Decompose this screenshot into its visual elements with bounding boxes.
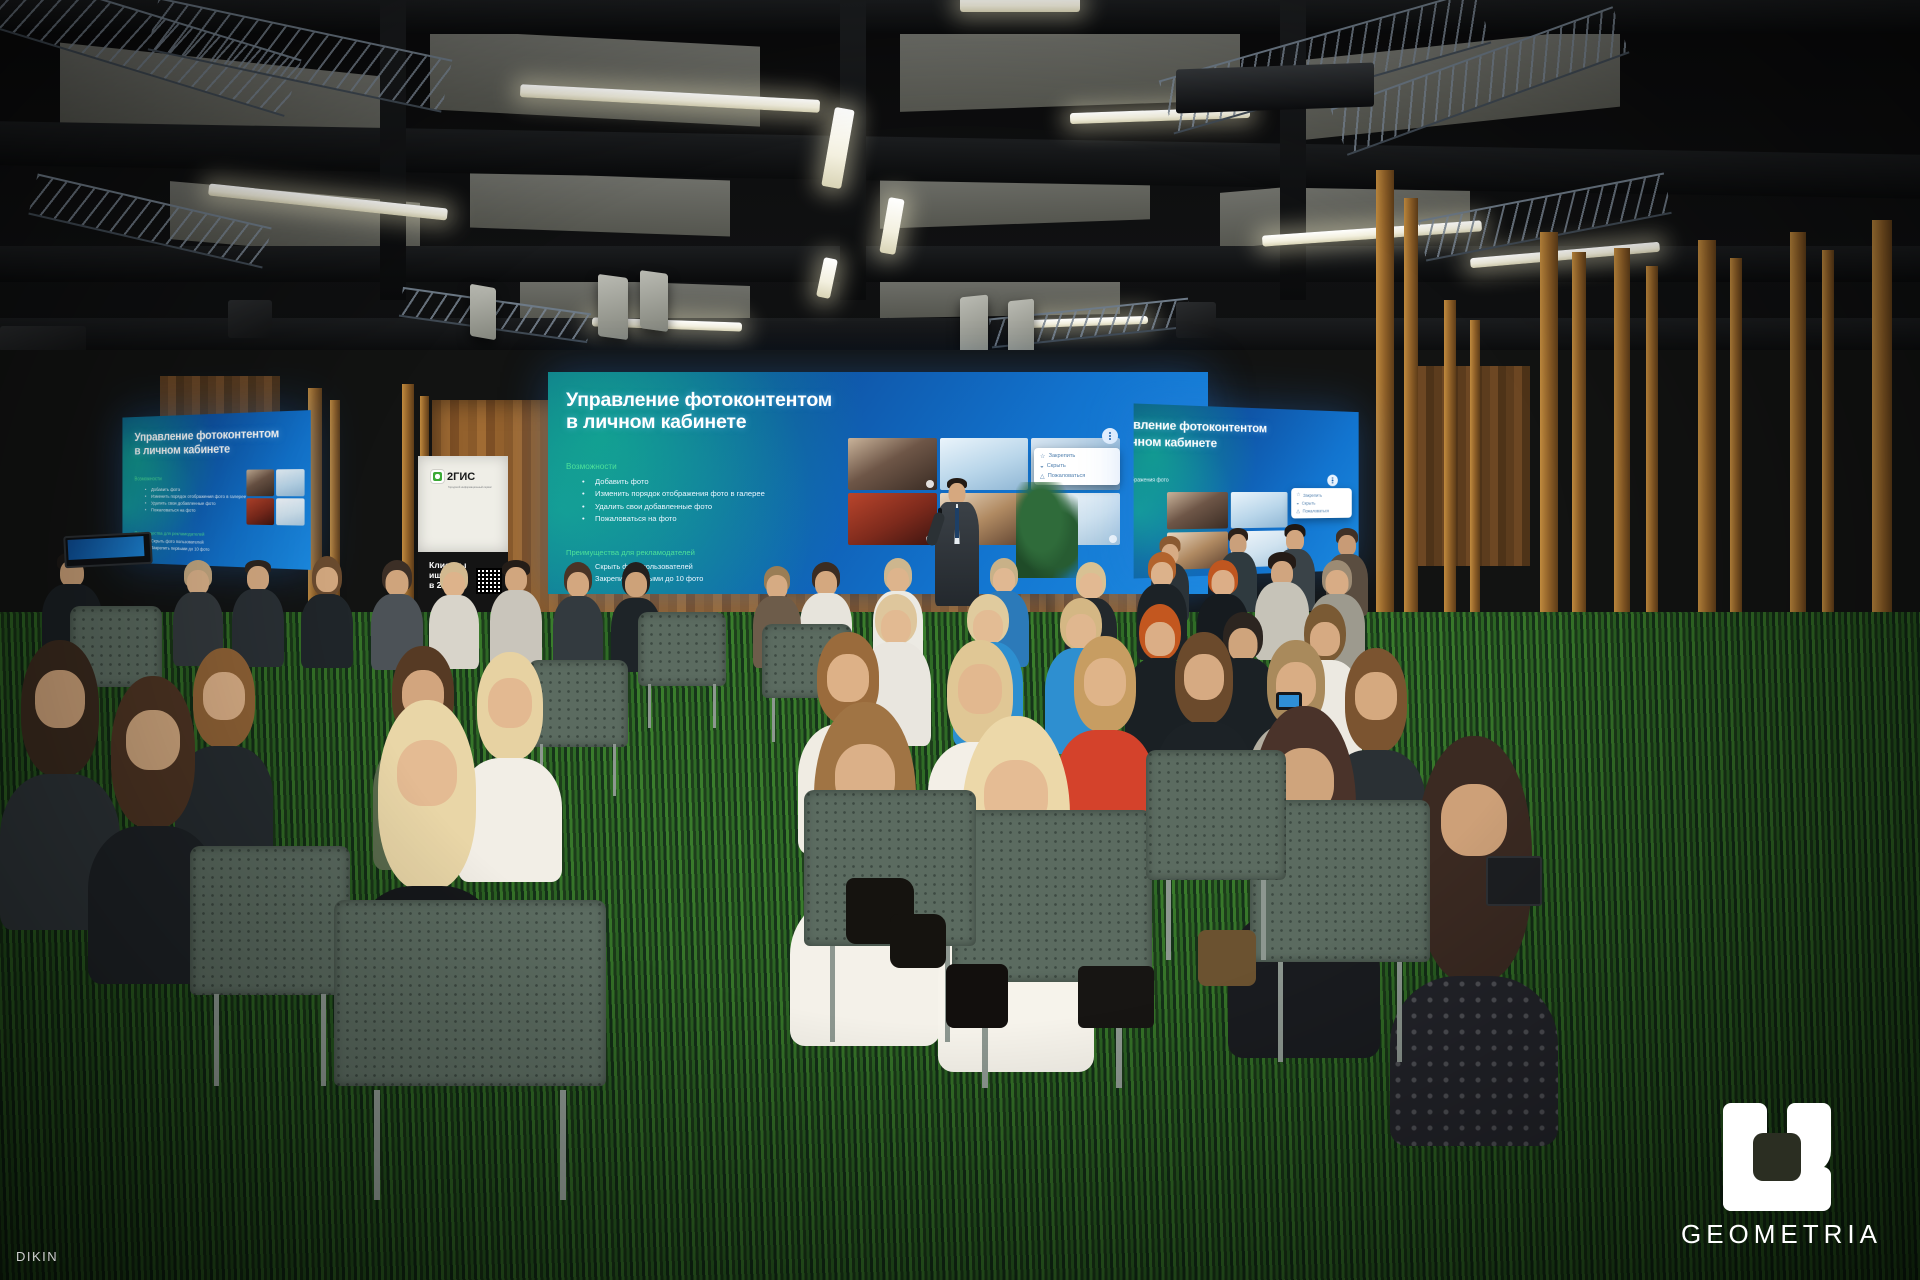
bullet-dot-icon: •: [582, 501, 585, 513]
boot: [946, 964, 1008, 1028]
watermark-brand-text: GEOMETRIA: [1681, 1219, 1882, 1250]
warning-triangle-icon: △: [1296, 509, 1300, 515]
menu-item-report[interactable]: △ Пожаловаться: [1295, 507, 1348, 516]
list-item: •Удалить свои добавленные фото: [582, 501, 802, 513]
left-screen-gallery-mockup: [246, 469, 304, 526]
list-item: •Изменить порядок отображения фото в гал…: [582, 488, 802, 500]
handbag: [1078, 966, 1154, 1028]
2gis-logo: 2ГИС: [431, 470, 475, 483]
list-item: •Добавить фото: [582, 476, 802, 488]
ceiling-panel: [470, 171, 730, 236]
gallery-photo: [1167, 492, 1227, 529]
gallery-photo: [276, 469, 304, 496]
menu-item-pin[interactable]: ☆ Закрепить: [1295, 491, 1348, 499]
gallery-photo: [1230, 492, 1287, 528]
necktie: [955, 508, 959, 538]
eye-off-icon: ◒: [1296, 500, 1299, 506]
geometria-watermark: GEOMETRIA: [1681, 1103, 1882, 1250]
bullet-dot-icon: •: [145, 507, 146, 514]
power-outlet[interactable]: [1486, 856, 1542, 906]
list-item: •Пожаловаться на фото: [582, 513, 802, 525]
gallery-photo: [276, 498, 304, 525]
audience-member: [300, 556, 354, 664]
ceiling-speaker: [640, 270, 668, 332]
gallery-photo: [246, 498, 274, 525]
photographer-credit: DIKIN: [16, 1249, 58, 1264]
2gis-logo-subtitle: Городской информационный сервис: [448, 486, 492, 489]
ceiling-speaker: [598, 274, 628, 340]
photo-badge: [1109, 535, 1117, 543]
star-pin-icon: ☆: [1040, 453, 1046, 460]
warning-triangle-icon: △: [1040, 473, 1045, 480]
ceiling-panel: [430, 29, 760, 126]
ceiling-speaker: [1176, 302, 1216, 338]
slide-section2-heading: Преимущества для рекламодателей: [566, 548, 695, 557]
2gis-map-pin-icon: [431, 470, 444, 483]
left-screen-section1-heading: Возможности: [134, 476, 161, 482]
phone-screen-preview: [68, 536, 145, 560]
bullet-dot-icon: •: [582, 476, 585, 488]
photo-context-menu[interactable]: ☆ Закрепить ◒ Скрыть △ Пожаловаться: [1291, 488, 1352, 519]
ceiling-speaker: [960, 295, 988, 356]
bullet-dot-icon: •: [582, 488, 585, 500]
slide-title-line1: Управление фотоконтентом: [566, 390, 832, 412]
more-vertical-icon[interactable]: [1102, 428, 1118, 444]
slide-title-line2: в личном кабинете: [566, 412, 746, 434]
menu-item-report[interactable]: △ Пожаловаться: [1038, 471, 1116, 481]
ceiling-speaker: [470, 284, 496, 341]
boot: [890, 914, 946, 968]
photo-context-menu[interactable]: ☆ Закрепить ◒ Скрыть △ Пожаловаться: [1034, 448, 1120, 485]
bullet-dot-icon: •: [582, 513, 585, 525]
bullet-dot-icon: •: [145, 493, 146, 500]
head: [949, 483, 966, 504]
chair: [190, 846, 350, 1086]
ceiling-light-tube: [960, 0, 1080, 12]
boot: [1198, 930, 1256, 986]
eye-off-icon: ◒: [1040, 463, 1044, 470]
chair: [334, 900, 606, 1200]
menu-item-hide[interactable]: ◒ Скрыть: [1038, 461, 1116, 471]
chair: [638, 612, 726, 732]
more-vertical-icon[interactable]: [1327, 475, 1338, 487]
conference-hall-photo: Управление фотоконтентом в личном кабине…: [0, 0, 1920, 1280]
projector: [0, 326, 86, 352]
chair: [952, 810, 1152, 1088]
star-pin-icon: ☆: [1296, 492, 1300, 498]
bullet-dot-icon: •: [145, 486, 146, 493]
menu-item-pin[interactable]: ☆ Закрепить: [1038, 451, 1116, 461]
slide-section1-heading: Возможности: [566, 462, 617, 471]
ceiling-speaker: [1008, 299, 1034, 356]
right-screen-fragment: отображения фото: [1134, 477, 1169, 484]
chair: [1146, 750, 1286, 960]
slide-section1-bullets: •Добавить фото •Изменить порядок отображ…: [582, 476, 802, 525]
geometria-g-logo-icon: [1723, 1103, 1839, 1211]
projector: [1176, 63, 1374, 114]
bullet-dot-icon: •: [145, 500, 146, 507]
ceiling-speaker: [228, 300, 272, 338]
gallery-photo: [246, 469, 274, 496]
audience-member: [552, 562, 604, 666]
audience-member: [490, 560, 542, 666]
